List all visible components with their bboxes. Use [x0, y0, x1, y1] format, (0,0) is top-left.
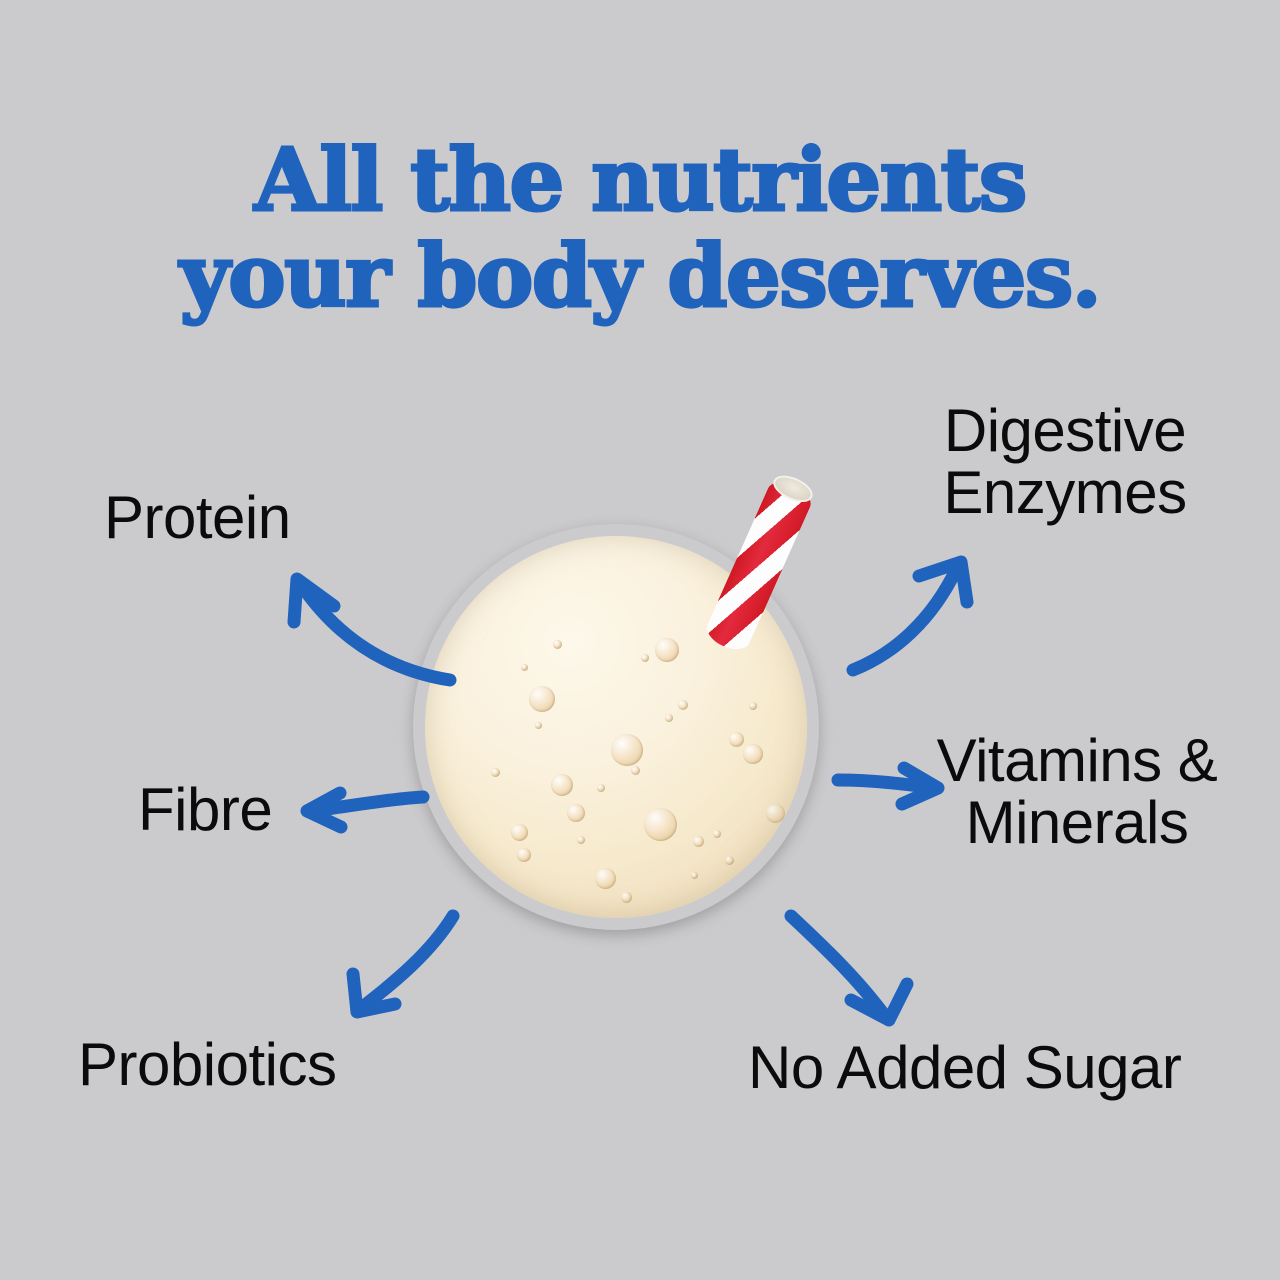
- callout-label-vitamins-minerals: Vitamins & Minerals: [912, 730, 1242, 854]
- headline-line-2: your body deserves.: [0, 232, 1280, 322]
- bubble: [743, 744, 763, 764]
- bubble: [517, 848, 531, 862]
- bubble: [521, 664, 528, 671]
- bubble: [693, 836, 704, 847]
- bubble: [691, 872, 698, 879]
- headline-line-1: All the nutrients: [0, 136, 1280, 226]
- callout-label-fibre: Fibre: [138, 779, 398, 841]
- bubble: [749, 702, 757, 710]
- bubble: [644, 808, 677, 841]
- bubble: [713, 830, 721, 838]
- callout-label-no-added-sugar: No Added Sugar: [748, 1037, 1218, 1099]
- bubble: [665, 714, 673, 722]
- bubble: [529, 686, 555, 712]
- bubble: [766, 804, 785, 823]
- bubble: [725, 856, 734, 865]
- bubble: [729, 732, 744, 747]
- bubble: [611, 734, 643, 766]
- bubble: [621, 892, 632, 903]
- nutrition-infographic-poster: All the nutrients your body deserves.: [0, 0, 1280, 1280]
- bubble: [631, 766, 640, 775]
- callout-label-digestive-enzymes: Digestive Enzymes: [900, 400, 1230, 524]
- bubble: [597, 784, 605, 792]
- bubble: [553, 640, 562, 649]
- bubble: [567, 804, 585, 822]
- bubble: [577, 836, 585, 844]
- bubble: [678, 700, 688, 710]
- bubble: [655, 638, 679, 662]
- bubble: [535, 722, 542, 729]
- bubble: [511, 824, 528, 841]
- page-title: All the nutrients your body deserves.: [0, 136, 1280, 323]
- callout-label-probiotics: Probiotics: [78, 1034, 478, 1096]
- arrow-digestive-enzymes-icon: [835, 550, 995, 690]
- bubble: [641, 654, 649, 662]
- bubble: [491, 768, 500, 777]
- bubble: [551, 774, 573, 796]
- bubble: [595, 868, 616, 889]
- callout-label-protein: Protein: [104, 487, 434, 549]
